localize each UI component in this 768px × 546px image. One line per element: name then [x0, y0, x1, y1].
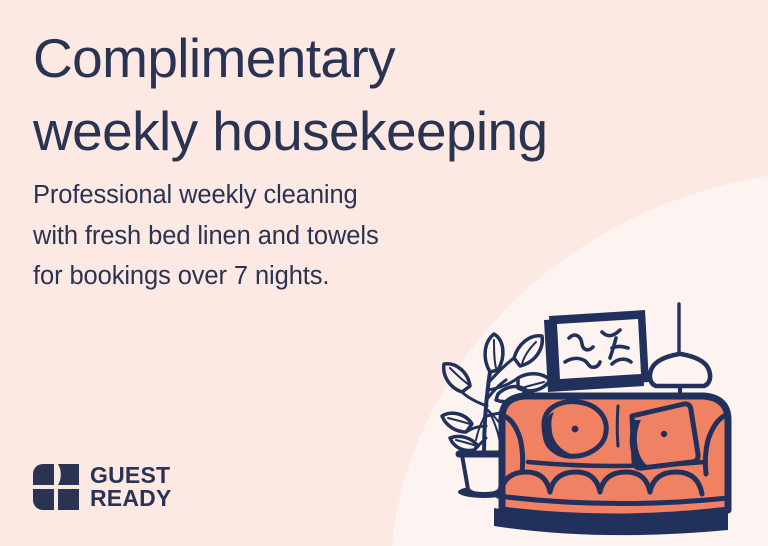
logo-wordmark: GUEST READY — [90, 464, 172, 509]
living-room-illustration — [432, 286, 768, 546]
guestready-mark-icon — [33, 464, 79, 510]
logo-line-1: GUEST — [90, 464, 172, 487]
framed-artwork-icon — [544, 310, 649, 392]
square-cushion-icon — [630, 404, 698, 468]
sofa-icon — [494, 396, 728, 535]
guestready-logo: GUEST READY — [33, 464, 172, 510]
promo-poster: Complimentary weekly housekeeping Profes… — [0, 0, 768, 546]
page-subtitle: Professional weekly cleaning with fresh … — [33, 175, 503, 297]
pendant-lamp-icon — [650, 304, 710, 402]
page-title: Complimentary weekly housekeeping — [33, 22, 673, 168]
round-cushion-icon — [543, 402, 606, 458]
logo-line-2: READY — [90, 487, 172, 510]
